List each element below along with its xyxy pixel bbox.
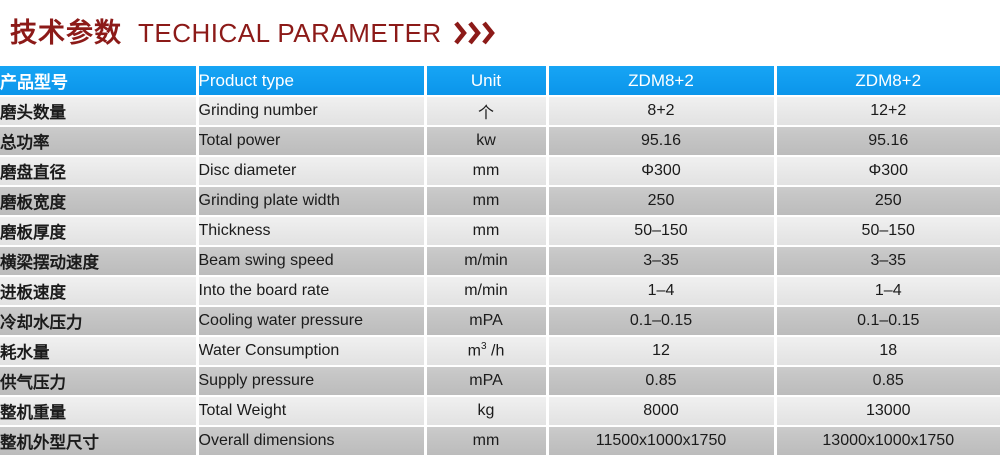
cell-unit: mm: [425, 186, 547, 216]
table-row: 进板速度Into the board ratem/min1–41–4: [0, 276, 1000, 306]
cell-product-type-cn: 供气压力: [0, 366, 197, 396]
cell-unit: m/min: [425, 246, 547, 276]
cell-value-model-1: 95.16: [547, 126, 775, 156]
cell-product-type: Total power: [197, 126, 425, 156]
cell-unit: kw: [425, 126, 547, 156]
cell-product-type-cn: 磨板厚度: [0, 216, 197, 246]
double-chevron-right-icon: [454, 21, 495, 45]
cell-product-type-cn: 整机外型尺寸: [0, 426, 197, 456]
cell-value-model-2: 13000: [775, 396, 1000, 426]
cell-value-model-2: 1–4: [775, 276, 1000, 306]
cell-product-type-cn: 整机重量: [0, 396, 197, 426]
cell-product-type-cn: 进板速度: [0, 276, 197, 306]
cell-value-model-1: 11500x1000x1750: [547, 426, 775, 456]
table-header: 产品型号 Product type Unit ZDM8+2 ZDM8+2: [0, 66, 1000, 96]
chevron-right-icon: [482, 21, 495, 45]
cell-value-model-1: 1–4: [547, 276, 775, 306]
cell-value-model-2: 250: [775, 186, 1000, 216]
page-title-cn: 技术参数: [10, 20, 122, 47]
table-row: 整机重量Total Weightkg800013000: [0, 396, 1000, 426]
cell-value-model-1: 250: [547, 186, 775, 216]
unit-tail: /h: [487, 343, 505, 360]
chevron-right-icon: [454, 21, 467, 45]
cell-value-model-2: 50–150: [775, 216, 1000, 246]
cell-value-model-2: 13000x1000x1750: [775, 426, 1000, 456]
cell-unit: mm: [425, 216, 547, 246]
cell-value-model-1: 8+2: [547, 96, 775, 126]
cell-product-type-cn: 横梁摆动速度: [0, 246, 197, 276]
cell-value-model-2: 0.1–0.15: [775, 306, 1000, 336]
cell-unit: kg: [425, 396, 547, 426]
cell-product-type-cn: 冷却水压力: [0, 306, 197, 336]
cell-value-model-2: 0.85: [775, 366, 1000, 396]
table-row: 冷却水压力Cooling water pressuremPA0.1–0.150.…: [0, 306, 1000, 336]
cell-product-type: Grinding number: [197, 96, 425, 126]
cell-unit: mm: [425, 426, 547, 456]
page-title-bar: 技术参数 TECHICAL PARAMETER: [0, 0, 1000, 66]
unit-base: m: [468, 343, 481, 360]
cell-unit: mPA: [425, 306, 547, 336]
cell-value-model-1: Φ300: [547, 156, 775, 186]
cell-value-model-2: 95.16: [775, 126, 1000, 156]
table-row: 耗水量Water Consumptionm3 /h1218: [0, 336, 1000, 366]
cell-product-type-cn: 磨头数量: [0, 96, 197, 126]
chevron-right-icon: [468, 21, 481, 45]
cell-value-model-2: 12+2: [775, 96, 1000, 126]
cell-unit: m/min: [425, 276, 547, 306]
cell-product-type: Total Weight: [197, 396, 425, 426]
cell-product-type-cn: 耗水量: [0, 336, 197, 366]
cell-product-type: Cooling water pressure: [197, 306, 425, 336]
table-row: 供气压力Supply pressuremPA0.850.85: [0, 366, 1000, 396]
cell-product-type: Beam swing speed: [197, 246, 425, 276]
cell-product-type-cn: 总功率: [0, 126, 197, 156]
column-header-unit: Unit: [425, 66, 547, 96]
column-header-product-type-cn: 产品型号: [0, 66, 197, 96]
cell-value-model-2: Φ300: [775, 156, 1000, 186]
table-row: 磨盘直径Disc diametermmΦ300Φ300: [0, 156, 1000, 186]
cell-value-model-1: 0.85: [547, 366, 775, 396]
cell-unit: m3 /h: [425, 336, 547, 366]
cell-product-type: Thickness: [197, 216, 425, 246]
cell-product-type: Grinding plate width: [197, 186, 425, 216]
cell-unit: mm: [425, 156, 547, 186]
cell-product-type-cn: 磨板宽度: [0, 186, 197, 216]
cell-value-model-1: 0.1–0.15: [547, 306, 775, 336]
table-body: 磨头数量Grinding number个8+212+2总功率Total powe…: [0, 96, 1000, 456]
column-header-model-1: ZDM8+2: [547, 66, 775, 96]
cell-value-model-1: 8000: [547, 396, 775, 426]
column-header-model-2: ZDM8+2: [775, 66, 1000, 96]
table-row: 磨板宽度Grinding plate widthmm250250: [0, 186, 1000, 216]
table-row: 磨板厚度Thicknessmm50–15050–150: [0, 216, 1000, 246]
column-header-product-type: Product type: [197, 66, 425, 96]
cell-value-model-1: 12: [547, 336, 775, 366]
cell-value-model-1: 3–35: [547, 246, 775, 276]
cell-unit: 个: [425, 96, 547, 126]
table-row: 整机外型尺寸Overall dimensionsmm11500x1000x175…: [0, 426, 1000, 456]
cell-unit: mPA: [425, 366, 547, 396]
cell-product-type: Overall dimensions: [197, 426, 425, 456]
cell-product-type-cn: 磨盘直径: [0, 156, 197, 186]
cell-product-type: Into the board rate: [197, 276, 425, 306]
cell-value-model-1: 50–150: [547, 216, 775, 246]
table-row: 横梁摆动速度Beam swing speedm/min3–353–35: [0, 246, 1000, 276]
table-row: 总功率Total powerkw95.1695.16: [0, 126, 1000, 156]
table-header-row: 产品型号 Product type Unit ZDM8+2 ZDM8+2: [0, 66, 1000, 96]
cell-value-model-2: 3–35: [775, 246, 1000, 276]
cell-product-type: Supply pressure: [197, 366, 425, 396]
table-row: 磨头数量Grinding number个8+212+2: [0, 96, 1000, 126]
cell-product-type: Water Consumption: [197, 336, 425, 366]
page-title-en: TECHICAL PARAMETER: [138, 20, 442, 46]
cell-value-model-2: 18: [775, 336, 1000, 366]
cell-product-type: Disc diameter: [197, 156, 425, 186]
technical-parameter-table: 产品型号 Product type Unit ZDM8+2 ZDM8+2 磨头数…: [0, 66, 1000, 457]
